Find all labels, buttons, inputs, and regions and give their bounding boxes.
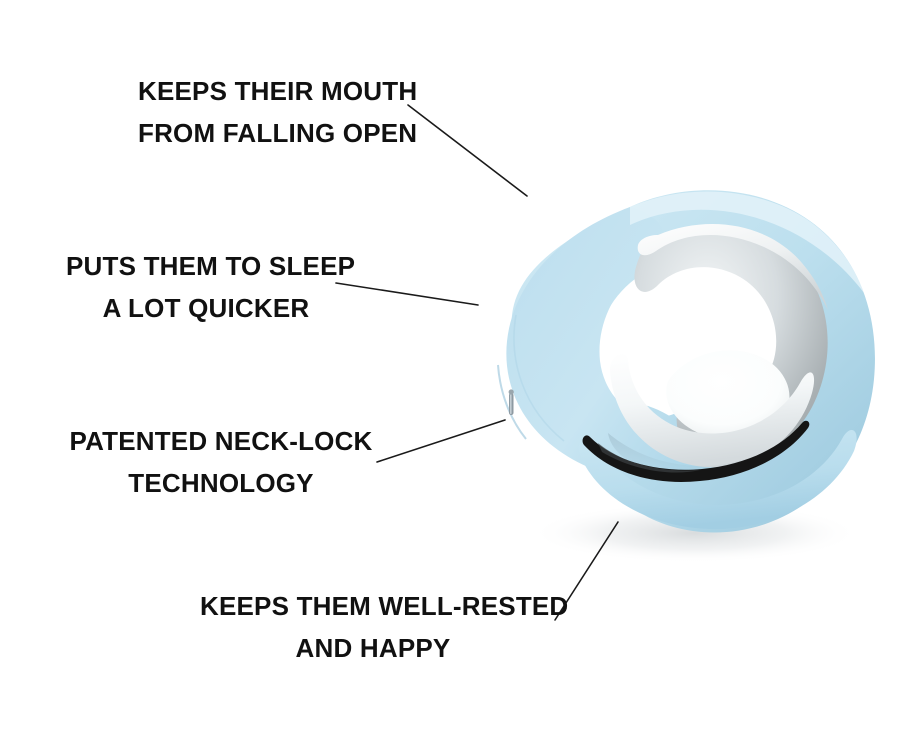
leader-line-faster-sleep: [336, 283, 478, 305]
callout-line-2: FROM FALLING OPEN: [138, 112, 417, 154]
zipper-pull-icon: [509, 389, 514, 415]
callout-well-rested-and-happy: KEEPS THEM WELL-RESTED AND HAPPY: [200, 585, 546, 669]
callout-keeps-mouth-closed: KEEPS THEIR MOUTH FROM FALLING OPEN: [138, 70, 417, 154]
callout-line-2: A LOT QUICKER: [66, 287, 346, 329]
infographic-canvas: KEEPS THEIR MOUTH FROM FALLING OPEN PUTS…: [0, 0, 900, 750]
callout-neck-lock-technology: PATENTED NECK-LOCK TECHNOLOGY: [66, 420, 376, 504]
callout-line-1: KEEPS THEM WELL-RESTED: [200, 585, 546, 627]
callout-line-2: AND HAPPY: [200, 627, 546, 669]
callout-line-1: KEEPS THEIR MOUTH: [138, 70, 417, 112]
callout-line-1: PATENTED NECK-LOCK: [66, 420, 376, 462]
callout-line-2: TECHNOLOGY: [66, 462, 376, 504]
callout-faster-sleep: PUTS THEM TO SLEEP A LOT QUICKER: [66, 245, 346, 329]
product-image-travel-neck-pillow: [480, 165, 890, 565]
callout-line-1: PUTS THEM TO SLEEP: [66, 245, 346, 287]
